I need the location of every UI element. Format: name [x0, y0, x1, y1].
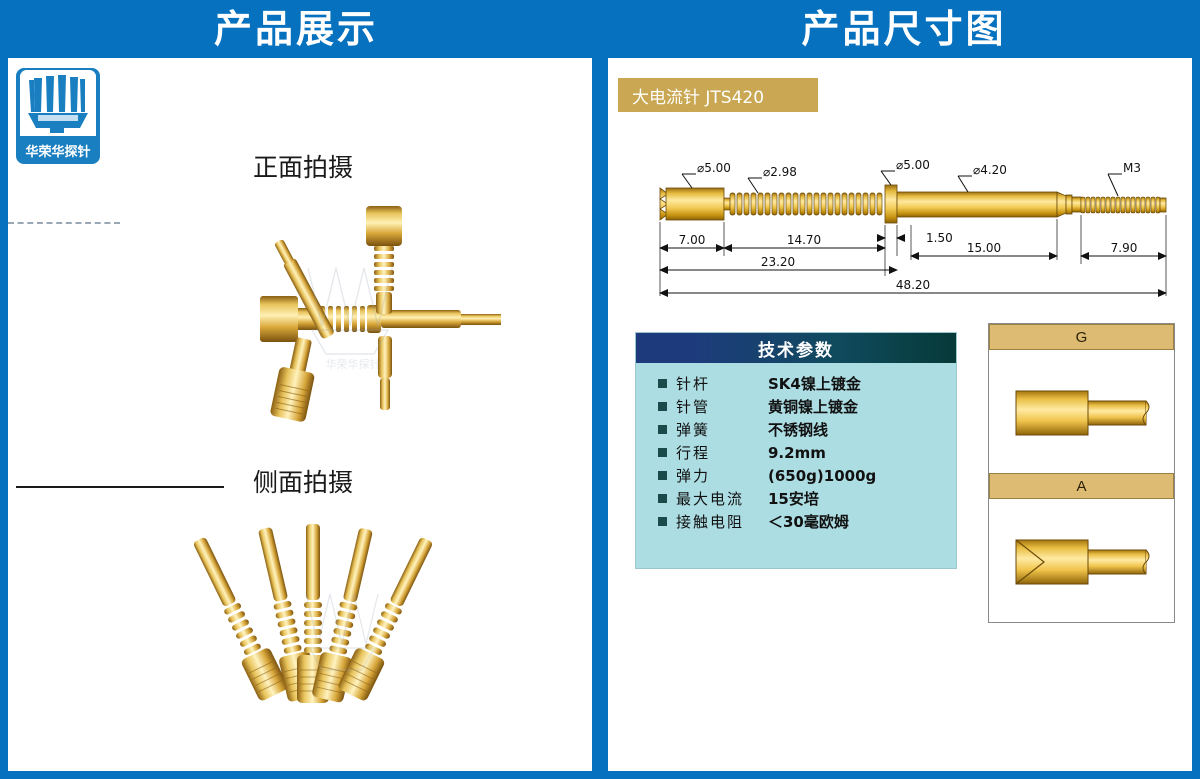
- brand-logo: 华荣华探针: [14, 66, 102, 166]
- caption-side-rule: [16, 486, 224, 488]
- spec-label: 针杆: [676, 373, 768, 394]
- spec-table-title: 技术参数: [758, 336, 834, 361]
- spec-value: 15安培: [768, 488, 819, 509]
- model-tag: 大电流针 JTS420: [618, 78, 818, 112]
- bullet-square-icon: [658, 379, 667, 388]
- dim-d1: ⌀5.00: [697, 161, 731, 175]
- dim-L1: 7.00: [679, 233, 706, 247]
- tip-variant-a: A: [989, 473, 1174, 622]
- spec-value: 9.2mm: [768, 444, 826, 462]
- left-panel-header: 产品展示: [0, 0, 592, 58]
- product-spec-page: 产品展示 产品尺寸图: [0, 0, 1200, 779]
- model-tag-label: 大电流针 JTS420: [632, 83, 764, 108]
- product-photos-panel: 华荣华探针 正面拍摄: [8, 58, 592, 771]
- dim-L6: 23.20: [761, 255, 795, 269]
- dim-d5: M3: [1123, 161, 1141, 175]
- dim-d4: ⌀4.20: [973, 163, 1007, 177]
- tip-variant-g-art: [989, 350, 1174, 473]
- logo-brand-name: 华荣华探针: [25, 141, 90, 160]
- caption-front-view: 正面拍摄: [253, 148, 353, 184]
- tip-variant-a-art: [989, 499, 1174, 622]
- spec-label: 针管: [676, 396, 768, 417]
- spec-value: (650g)1000g: [768, 467, 876, 485]
- photo-front-view: [138, 188, 538, 468]
- left-panel-title: 产品展示: [214, 10, 378, 48]
- dim-L3: 1.50: [926, 231, 953, 245]
- tip-variant-a-code: A: [1076, 478, 1086, 495]
- photo-side-view: [128, 518, 498, 763]
- spec-label: 接触电阻: [676, 511, 768, 532]
- spec-label: 行程: [676, 442, 768, 463]
- spec-row: 接触电阻 ＜30毫欧姆: [658, 511, 956, 534]
- spec-label: 弹力: [676, 465, 768, 486]
- right-panel-title: 产品尺寸图: [801, 10, 1006, 48]
- spec-row: 针管 黄铜镍上镀金: [658, 396, 956, 419]
- tip-variant-a-header: A: [989, 473, 1174, 499]
- dim-L5: 7.90: [1111, 241, 1138, 255]
- logo-mark-icon: [20, 70, 96, 136]
- caption-side-view: 侧面拍摄: [253, 463, 353, 499]
- spec-value: 不锈钢线: [768, 419, 828, 440]
- tip-variants-box: G: [988, 323, 1175, 623]
- tip-variant-g-header: G: [989, 324, 1174, 350]
- spec-value: ＜30毫欧姆: [768, 511, 849, 532]
- spec-label: 弹簧: [676, 419, 768, 440]
- dim-L2: 14.70: [787, 233, 821, 247]
- spec-row: 最大电流 15安培: [658, 488, 956, 511]
- spec-table-body: 针杆 SK4镍上镀金 针管 黄铜镍上镀金 弹簧 不锈钢线 行程 9.2mm: [636, 363, 956, 534]
- dim-d3: ⌀5.00: [896, 158, 930, 172]
- bullet-square-icon: [658, 402, 667, 411]
- dimension-drawing-panel: 大电流针 JTS420: [608, 58, 1192, 771]
- spec-label: 最大电流: [676, 488, 768, 509]
- dim-L4: 15.00: [967, 241, 1001, 255]
- spec-value: 黄铜镍上镀金: [768, 396, 858, 417]
- dim-d2: ⌀2.98: [763, 165, 797, 179]
- tip-variant-g: G: [989, 324, 1174, 473]
- decorative-dashed-rule: [8, 222, 120, 224]
- dim-L7: 48.20: [896, 278, 930, 292]
- spec-row: 针杆 SK4镍上镀金: [658, 373, 956, 396]
- bullet-square-icon: [658, 517, 667, 526]
- spec-table: 技术参数 针杆 SK4镍上镀金 针管 黄铜镍上镀金 弹簧 不锈钢线: [636, 333, 956, 568]
- spec-row: 行程 9.2mm: [658, 442, 956, 465]
- bullet-square-icon: [658, 494, 667, 503]
- right-panel-header: 产品尺寸图: [608, 0, 1200, 58]
- spec-table-header: 技术参数: [636, 333, 956, 363]
- spec-value: SK4镍上镀金: [768, 373, 861, 394]
- tip-variant-g-code: G: [1076, 329, 1088, 346]
- spec-row: 弹力 (650g)1000g: [658, 465, 956, 488]
- technical-drawing: ⌀5.00 ⌀2.98 ⌀5.00 ⌀4.20 M3: [648, 138, 1183, 313]
- bullet-square-icon: [658, 448, 667, 457]
- bullet-square-icon: [658, 425, 667, 434]
- spec-row: 弹簧 不锈钢线: [658, 419, 956, 442]
- panel-divider: [592, 0, 608, 779]
- bullet-square-icon: [658, 471, 667, 480]
